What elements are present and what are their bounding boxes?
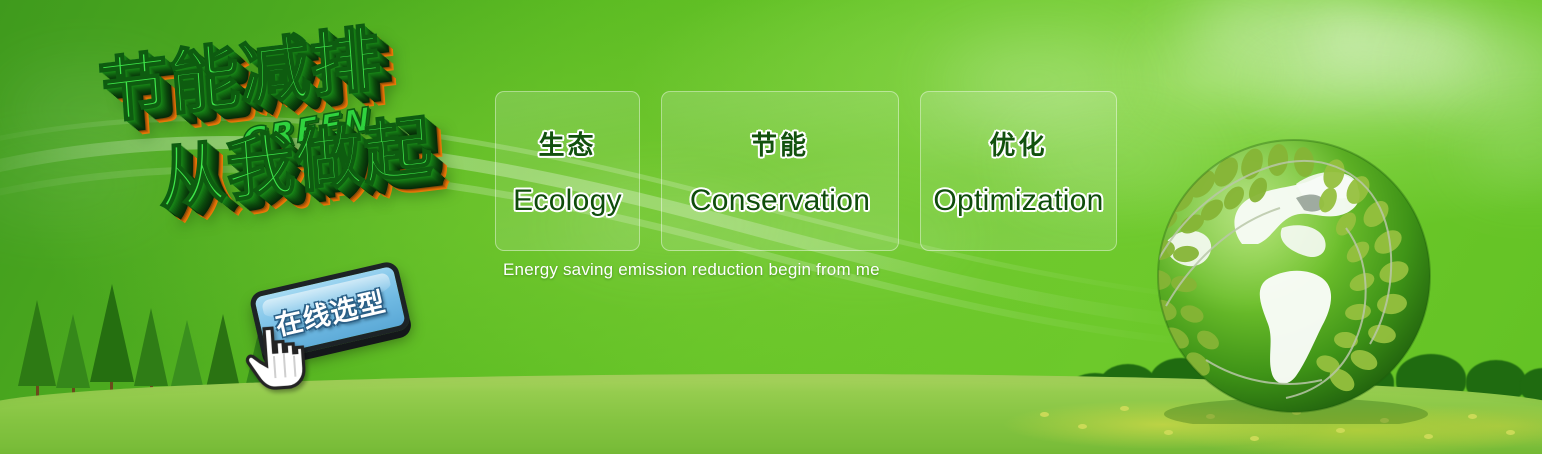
cloud-decoration	[1260, 56, 1470, 114]
feature-card-conservation-cn: 节能	[751, 125, 809, 162]
hero-title: 节能减排 GREEN 从我做起	[85, 11, 511, 298]
feature-card-conservation[interactable]: 节能 Conservation	[661, 91, 899, 251]
feature-card-ecology[interactable]: 生态 Ecology	[495, 91, 640, 251]
hero-title-line2: 从我做起	[156, 114, 435, 216]
pointing-hand-cursor-icon	[242, 320, 311, 394]
feature-card-conservation-en: Conservation	[690, 184, 870, 218]
feature-cards: 生态 Ecology 节能 Conservation 优化 Optimizati…	[495, 91, 1117, 251]
eco-banner: 节能减排 GREEN 从我做起 在线选型 生态 Ecology 节能 Conse…	[0, 0, 1542, 454]
leafy-earth-globe-icon	[1146, 128, 1442, 424]
feature-card-optimization-en: Optimization	[933, 184, 1103, 218]
feature-card-ecology-cn: 生态	[538, 125, 596, 162]
feature-card-ecology-en: Ecology	[513, 184, 622, 218]
feature-card-optimization-cn: 优化	[989, 125, 1047, 162]
cloud-decoration	[1150, 46, 1280, 96]
feature-card-optimization[interactable]: 优化 Optimization	[920, 91, 1117, 251]
banner-tagline: Energy saving emission reduction begin f…	[503, 260, 880, 280]
